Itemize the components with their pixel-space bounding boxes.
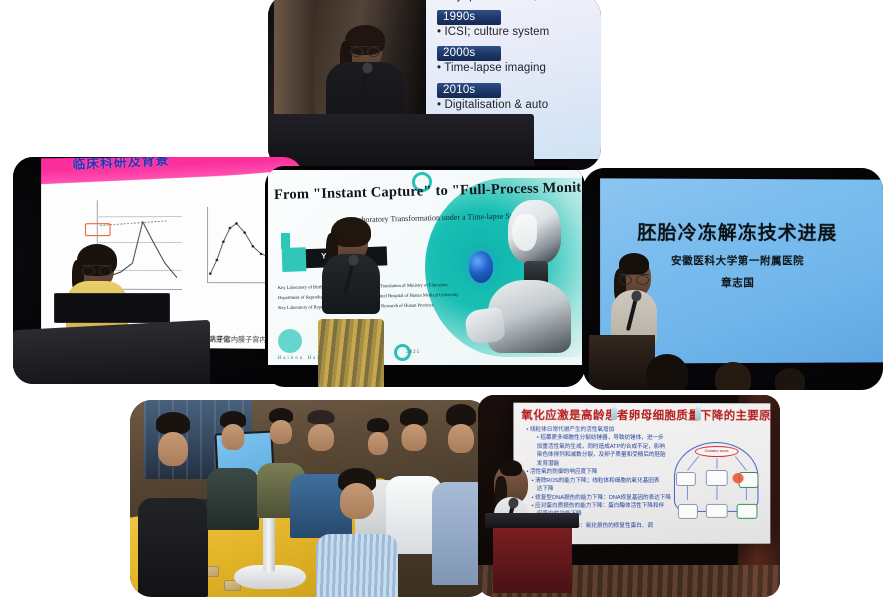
attendee	[137, 432, 209, 597]
podium	[13, 320, 210, 384]
slide-bullet: • 修复型DNA损伤的能力下降：DNA修复基因的表达下降	[532, 494, 671, 503]
slide-bullet: 染色体排列和减数分裂，及卵子质量和受精后的胚胎	[537, 451, 666, 459]
name-plate-accent	[282, 247, 307, 272]
speaker-skirt	[318, 319, 384, 387]
speaker-figure	[310, 221, 393, 387]
water-bottle-icon	[611, 407, 617, 420]
decade-text: • ICSI; culture system	[437, 25, 601, 39]
photo-collage: • Cryopreservation; 1990s • ICSI; cultur…	[0, 0, 887, 597]
panel-ivf-timeline-lecture[interactable]: • Cryopreservation; 1990s • ICSI; cultur…	[268, 0, 601, 170]
attendee-hair	[156, 412, 190, 434]
robot-graphic-icon	[478, 194, 572, 353]
glasses-icon	[82, 265, 112, 274]
audience-head	[646, 354, 688, 390]
lecture-scene: • Cryopreservation; 1990s • ICSI; cultur…	[268, 0, 601, 170]
speaker-hair-icon	[619, 253, 649, 275]
audience-row	[583, 346, 883, 390]
water-bottle-icon	[695, 407, 701, 420]
attendee-head	[221, 424, 244, 450]
slide-bullet: • 线粒体日常代谢产生的活性氧增加	[527, 425, 615, 434]
diagram-arrows	[671, 437, 763, 525]
podium	[268, 114, 534, 170]
attendee-head	[402, 424, 427, 451]
decade-chip: 2010s	[437, 83, 501, 98]
square-decoration-icon	[281, 233, 290, 249]
robot-arm	[464, 307, 506, 346]
robot-head	[508, 200, 561, 264]
slide-bullet: • 招募更多细胞性分裂纺锤器，导致纺锤体，进一步	[537, 434, 664, 443]
pathway-diagram: Oxidative stress	[671, 437, 763, 525]
timeline-bullet-0: • Cryopreservation;	[437, 0, 601, 3]
slide-bullet: 发育潜能	[537, 460, 560, 468]
speaker-hair-icon	[331, 217, 371, 247]
attendee-hair	[307, 410, 334, 424]
decade-chip: 2000s	[437, 46, 501, 61]
robot-face	[512, 214, 537, 251]
slide-bullet: • 应对蛋白质损伤的能力下降：蛋白酶体活性下降和伴	[532, 502, 665, 511]
timeline-slide-content: • Cryopreservation; 1990s • ICSI; cultur…	[437, 0, 601, 116]
decade-chip: 1990s	[437, 10, 501, 25]
slide-bullet: 加重活性氧的生成，同时造成ATP的合成不足，影响	[537, 443, 665, 452]
slide-bullet: • 活性氧的防御的响应度下降	[527, 468, 598, 476]
audience-head	[715, 362, 751, 390]
attendee-torso	[316, 534, 398, 597]
attendee-head	[340, 483, 374, 519]
attendee	[206, 424, 260, 530]
lecture-scene: 胚胎冷冻解冻技术进展 安徽医科大学第一附属医院 章志国	[583, 168, 883, 390]
attendee-torso	[138, 498, 208, 597]
speaker-hair-icon	[500, 460, 522, 476]
panel-oxidative-stress-lecture[interactable]: 氧化应激是高龄患者卵母细胞质量下降的主要原因 • 线粒体日常代谢产生的活性氧增加…	[478, 395, 780, 597]
highlight-box	[85, 224, 111, 237]
slide-bullet: • 清除ROS的能力下降；线粒体和细胞抗氧化基因表	[532, 477, 660, 485]
timeline-entry-2010s: 2010s • Digitalisation & auto	[437, 80, 601, 112]
timeline-entry-1990s: 1990s • ICSI; culture system	[437, 7, 601, 39]
glasses-icon	[619, 274, 649, 283]
panel-embryo-cryopreservation-lecture[interactable]: 胚胎冷冻解冻技术进展 安徽医科大学第一附属医院 章志国	[583, 168, 883, 390]
laptop-icon	[54, 293, 170, 323]
lecture-scene: 临床科研及背景	[13, 157, 303, 384]
attendee-head	[448, 424, 474, 453]
attendee-head	[158, 432, 188, 466]
workshop-scene	[130, 400, 490, 597]
slide-title: 氧化应激是高龄患者卵母细胞质量下降的主要原因	[521, 407, 762, 424]
attendee-head	[308, 424, 334, 451]
attendee-torso	[207, 468, 259, 530]
panel-hands-on-microscope-workshop[interactable]	[130, 400, 490, 597]
robot-torso	[488, 280, 571, 353]
circle-decoration-icon	[278, 329, 302, 353]
decade-text: • Digitalisation & auto	[437, 98, 601, 112]
globe-icon	[469, 251, 493, 283]
podium	[493, 524, 572, 593]
slide-bullet: 达下降	[537, 485, 554, 493]
lecture-scene: 氧化应激是高龄患者卵母细胞质量下降的主要原因 • 线粒体日常代谢产生的活性氧增加…	[478, 395, 780, 597]
slide-title: 胚胎冷冻解冻技术进展	[600, 217, 874, 245]
audience-head	[775, 368, 805, 390]
slide-banner-title: 临床科研及背景	[73, 157, 170, 173]
slide-banner: 临床科研及背景	[41, 157, 303, 185]
decade-text: • Time-lapse imaging	[437, 61, 601, 75]
lecture-scene: From "Instant Capture" to "Full-Process …	[265, 166, 585, 387]
timeline-entry-2000s: 2000s • Time-lapse imaging	[437, 43, 601, 75]
panel-time-lapse-system-lecture[interactable]: From "Instant Capture" to "Full-Process …	[265, 166, 585, 387]
attendee-seated	[317, 483, 396, 597]
glasses-icon	[350, 46, 380, 55]
panel-research-background-lecture[interactable]: 临床科研及背景	[13, 157, 303, 384]
slide-footer-date: 2025	[406, 350, 420, 355]
